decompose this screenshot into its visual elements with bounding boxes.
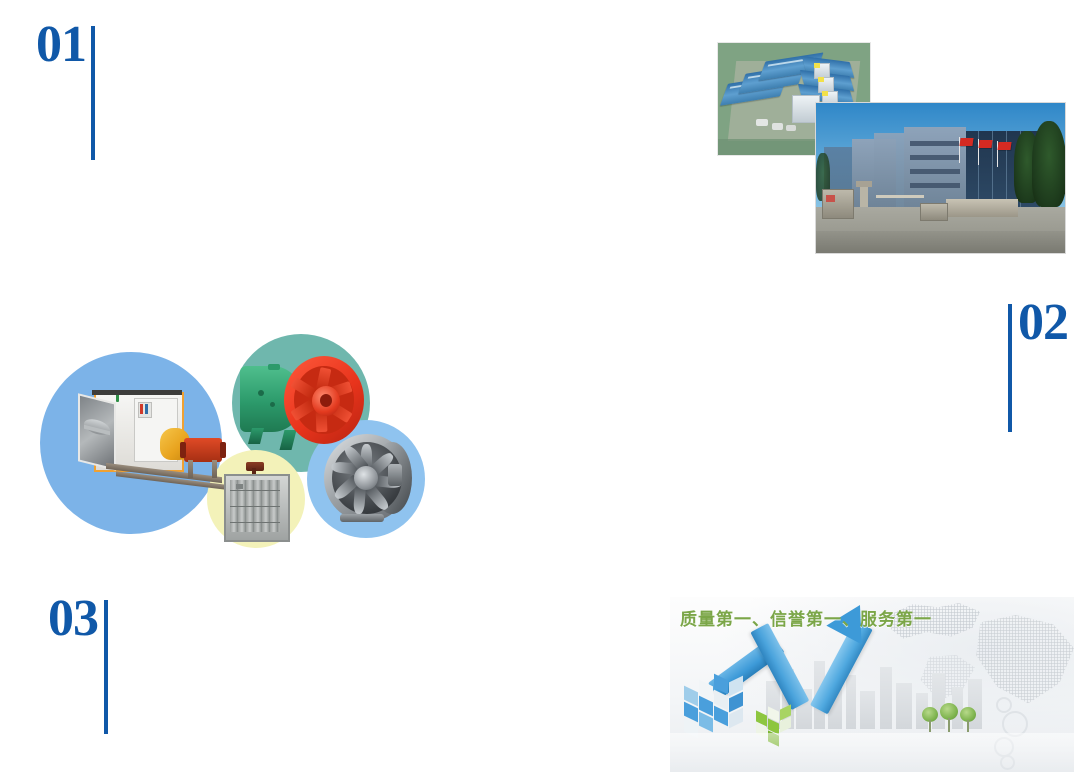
city-skyline [860, 691, 875, 729]
product-metal-axial-fan [314, 430, 418, 528]
section-number-02: 02 [1018, 300, 1068, 346]
tree-icon [940, 703, 958, 733]
flag-icon [978, 140, 992, 148]
tree-icon [922, 707, 938, 733]
blue-white-cube [684, 675, 746, 741]
section-marker-03: 03 [48, 596, 108, 734]
section-accent-bar-02 [1008, 304, 1012, 432]
city-skyline [880, 667, 892, 729]
tree-icon [960, 707, 976, 733]
product-box-centrifugal-fan [72, 384, 232, 500]
section-marker-02: 02 [1008, 300, 1068, 432]
flag-icon [959, 138, 973, 146]
city-skyline [896, 683, 912, 729]
section-number-03: 03 [48, 596, 98, 642]
section-number-01: 01 [36, 22, 86, 68]
brochure-page: 01 02 03 [0, 0, 1074, 772]
section-accent-bar-03 [104, 600, 108, 734]
slogan-text: 质量第一、信誉第一、服务第一 [680, 605, 932, 630]
product-fire-damper [222, 462, 290, 540]
city-skyline [846, 675, 856, 729]
bubble-circle [996, 697, 1012, 713]
office-building-photo [815, 102, 1066, 254]
section-marker-01: 01 [36, 22, 95, 160]
world-map-dots [970, 615, 1074, 707]
slogan-banner: 质量第一、信誉第一、服务第一 [670, 597, 1074, 772]
product-collage [32, 322, 422, 550]
section-accent-bar-01 [91, 26, 95, 160]
flag-icon [997, 142, 1011, 150]
